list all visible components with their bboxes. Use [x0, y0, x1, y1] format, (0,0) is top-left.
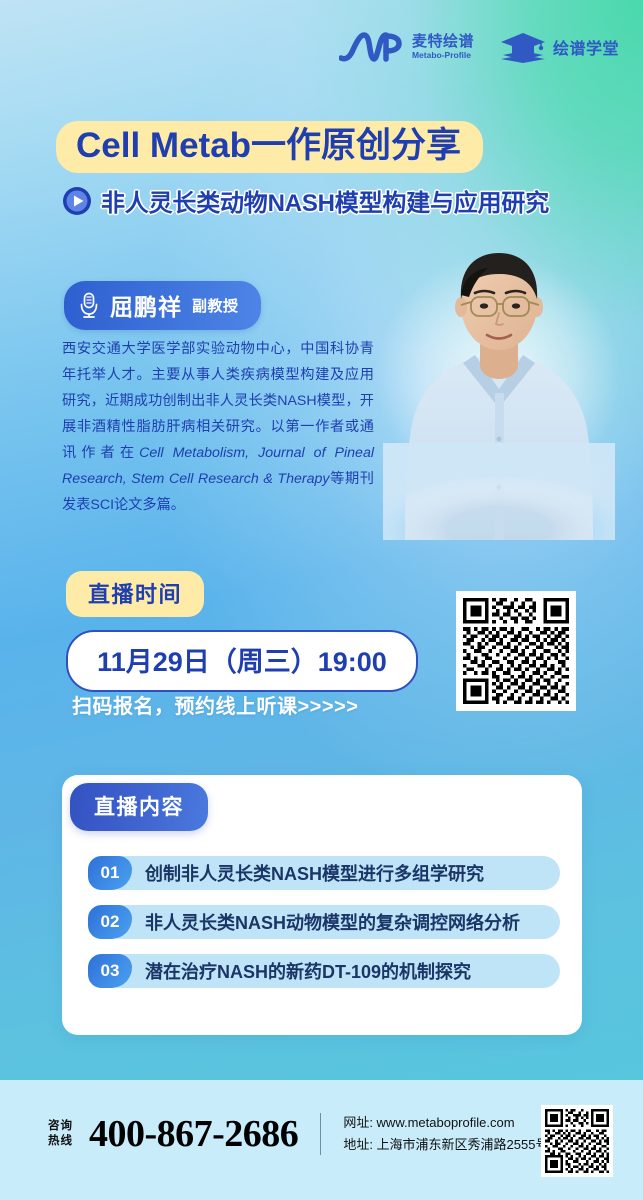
- hotline-label-line1: 咨询: [48, 1119, 73, 1134]
- footer-divider: [320, 1113, 321, 1155]
- live-content-badge-label: 直播内容: [94, 796, 184, 819]
- hotline-label: 咨询 热线: [48, 1119, 73, 1149]
- play-circle-icon: [62, 186, 92, 216]
- bio-part1: 西安交通大学医学部实验动物中心，中国科协青年托举人才。主要从事人类疾病模型构建及…: [62, 341, 374, 461]
- speaker-name-pill: 屈鹏祥 副教授: [64, 281, 261, 330]
- live-time-badge: 直播时间: [66, 571, 204, 617]
- header-logos: 麦特绘谱 Metabo-Profile 绘谱学堂: [339, 30, 619, 64]
- subtitle-row: 非人灵长类动物NASH模型构建与应用研究: [62, 183, 549, 218]
- live-datetime-pill: 11月29日（周三）19:00: [66, 630, 418, 692]
- footer-contact-group: 咨询 热线 400-867-2686 网址: www.metaboprofile…: [48, 1112, 577, 1156]
- logo-metabo-cn: 麦特绘谱: [412, 34, 474, 49]
- logo-metabo-en: Metabo-Profile: [412, 51, 474, 60]
- main-title-pill: Cell Metab一作原创分享: [56, 121, 483, 173]
- microphone-icon: [78, 292, 100, 318]
- logo-metabo-text: 麦特绘谱 Metabo-Profile: [412, 34, 474, 60]
- page-subtitle: 非人灵长类动物NASH模型构建与应用研究: [101, 183, 549, 218]
- speaker-photo: [383, 243, 615, 540]
- list-item-label: 创制非人灵长类NASH模型进行多组学研究: [145, 856, 484, 890]
- live-content-list: 01 创制非人灵长类NASH模型进行多组学研究 02 非人灵长类NASH动物模型…: [88, 856, 560, 1003]
- logo-metabo-profile: 麦特绘谱 Metabo-Profile: [339, 30, 474, 64]
- page-title: Cell Metab一作原创分享: [76, 126, 461, 165]
- scan-hint-text: 扫码报名，预约线上听课>>>>>: [72, 690, 358, 719]
- speaker-portrait-illustration: [383, 243, 615, 540]
- logo-huipu-label: 绘谱学堂: [553, 35, 619, 59]
- mp-wave-logo-icon: [339, 30, 405, 64]
- list-item-label: 非人灵长类NASH动物模型的复杂调控网络分析: [145, 905, 520, 939]
- speaker-name: 屈鹏祥: [110, 288, 182, 322]
- logo-huipu-academy: 绘谱学堂: [500, 30, 619, 64]
- hotline-number[interactable]: 400-867-2686: [89, 1115, 298, 1153]
- graduation-cap-icon: [500, 30, 546, 64]
- live-time-badge-label: 直播时间: [88, 582, 182, 607]
- registration-qr-code[interactable]: [456, 591, 576, 711]
- qr-code-image: [463, 598, 569, 704]
- speaker-role: 副教授: [192, 295, 239, 316]
- list-item[interactable]: 03 潜在治疗NASH的新药DT-109的机制探究: [88, 954, 560, 988]
- photo-glow: [343, 223, 643, 563]
- list-item[interactable]: 02 非人灵长类NASH动物模型的复杂调控网络分析: [88, 905, 560, 939]
- qr-code-image: [545, 1109, 609, 1173]
- live-datetime: 11月29日（周三）19:00: [97, 647, 387, 677]
- poster-root: 麦特绘谱 Metabo-Profile 绘谱学堂 Cell Metab一作原创分…: [0, 0, 643, 1200]
- hotline-label-line2: 热线: [48, 1134, 73, 1149]
- speaker-bio: 西安交通大学医学部实验动物中心，中国科协青年托举人才。主要从事人类疾病模型构建及…: [62, 336, 374, 518]
- list-item-label: 潜在治疗NASH的新药DT-109的机制探究: [145, 954, 471, 988]
- footer-bar: 咨询 热线 400-867-2686 网址: www.metaboprofile…: [0, 1080, 643, 1200]
- company-qr-code[interactable]: [541, 1105, 613, 1177]
- live-content-badge: 直播内容: [70, 783, 208, 831]
- list-item[interactable]: 01 创制非人灵长类NASH模型进行多组学研究: [88, 856, 560, 890]
